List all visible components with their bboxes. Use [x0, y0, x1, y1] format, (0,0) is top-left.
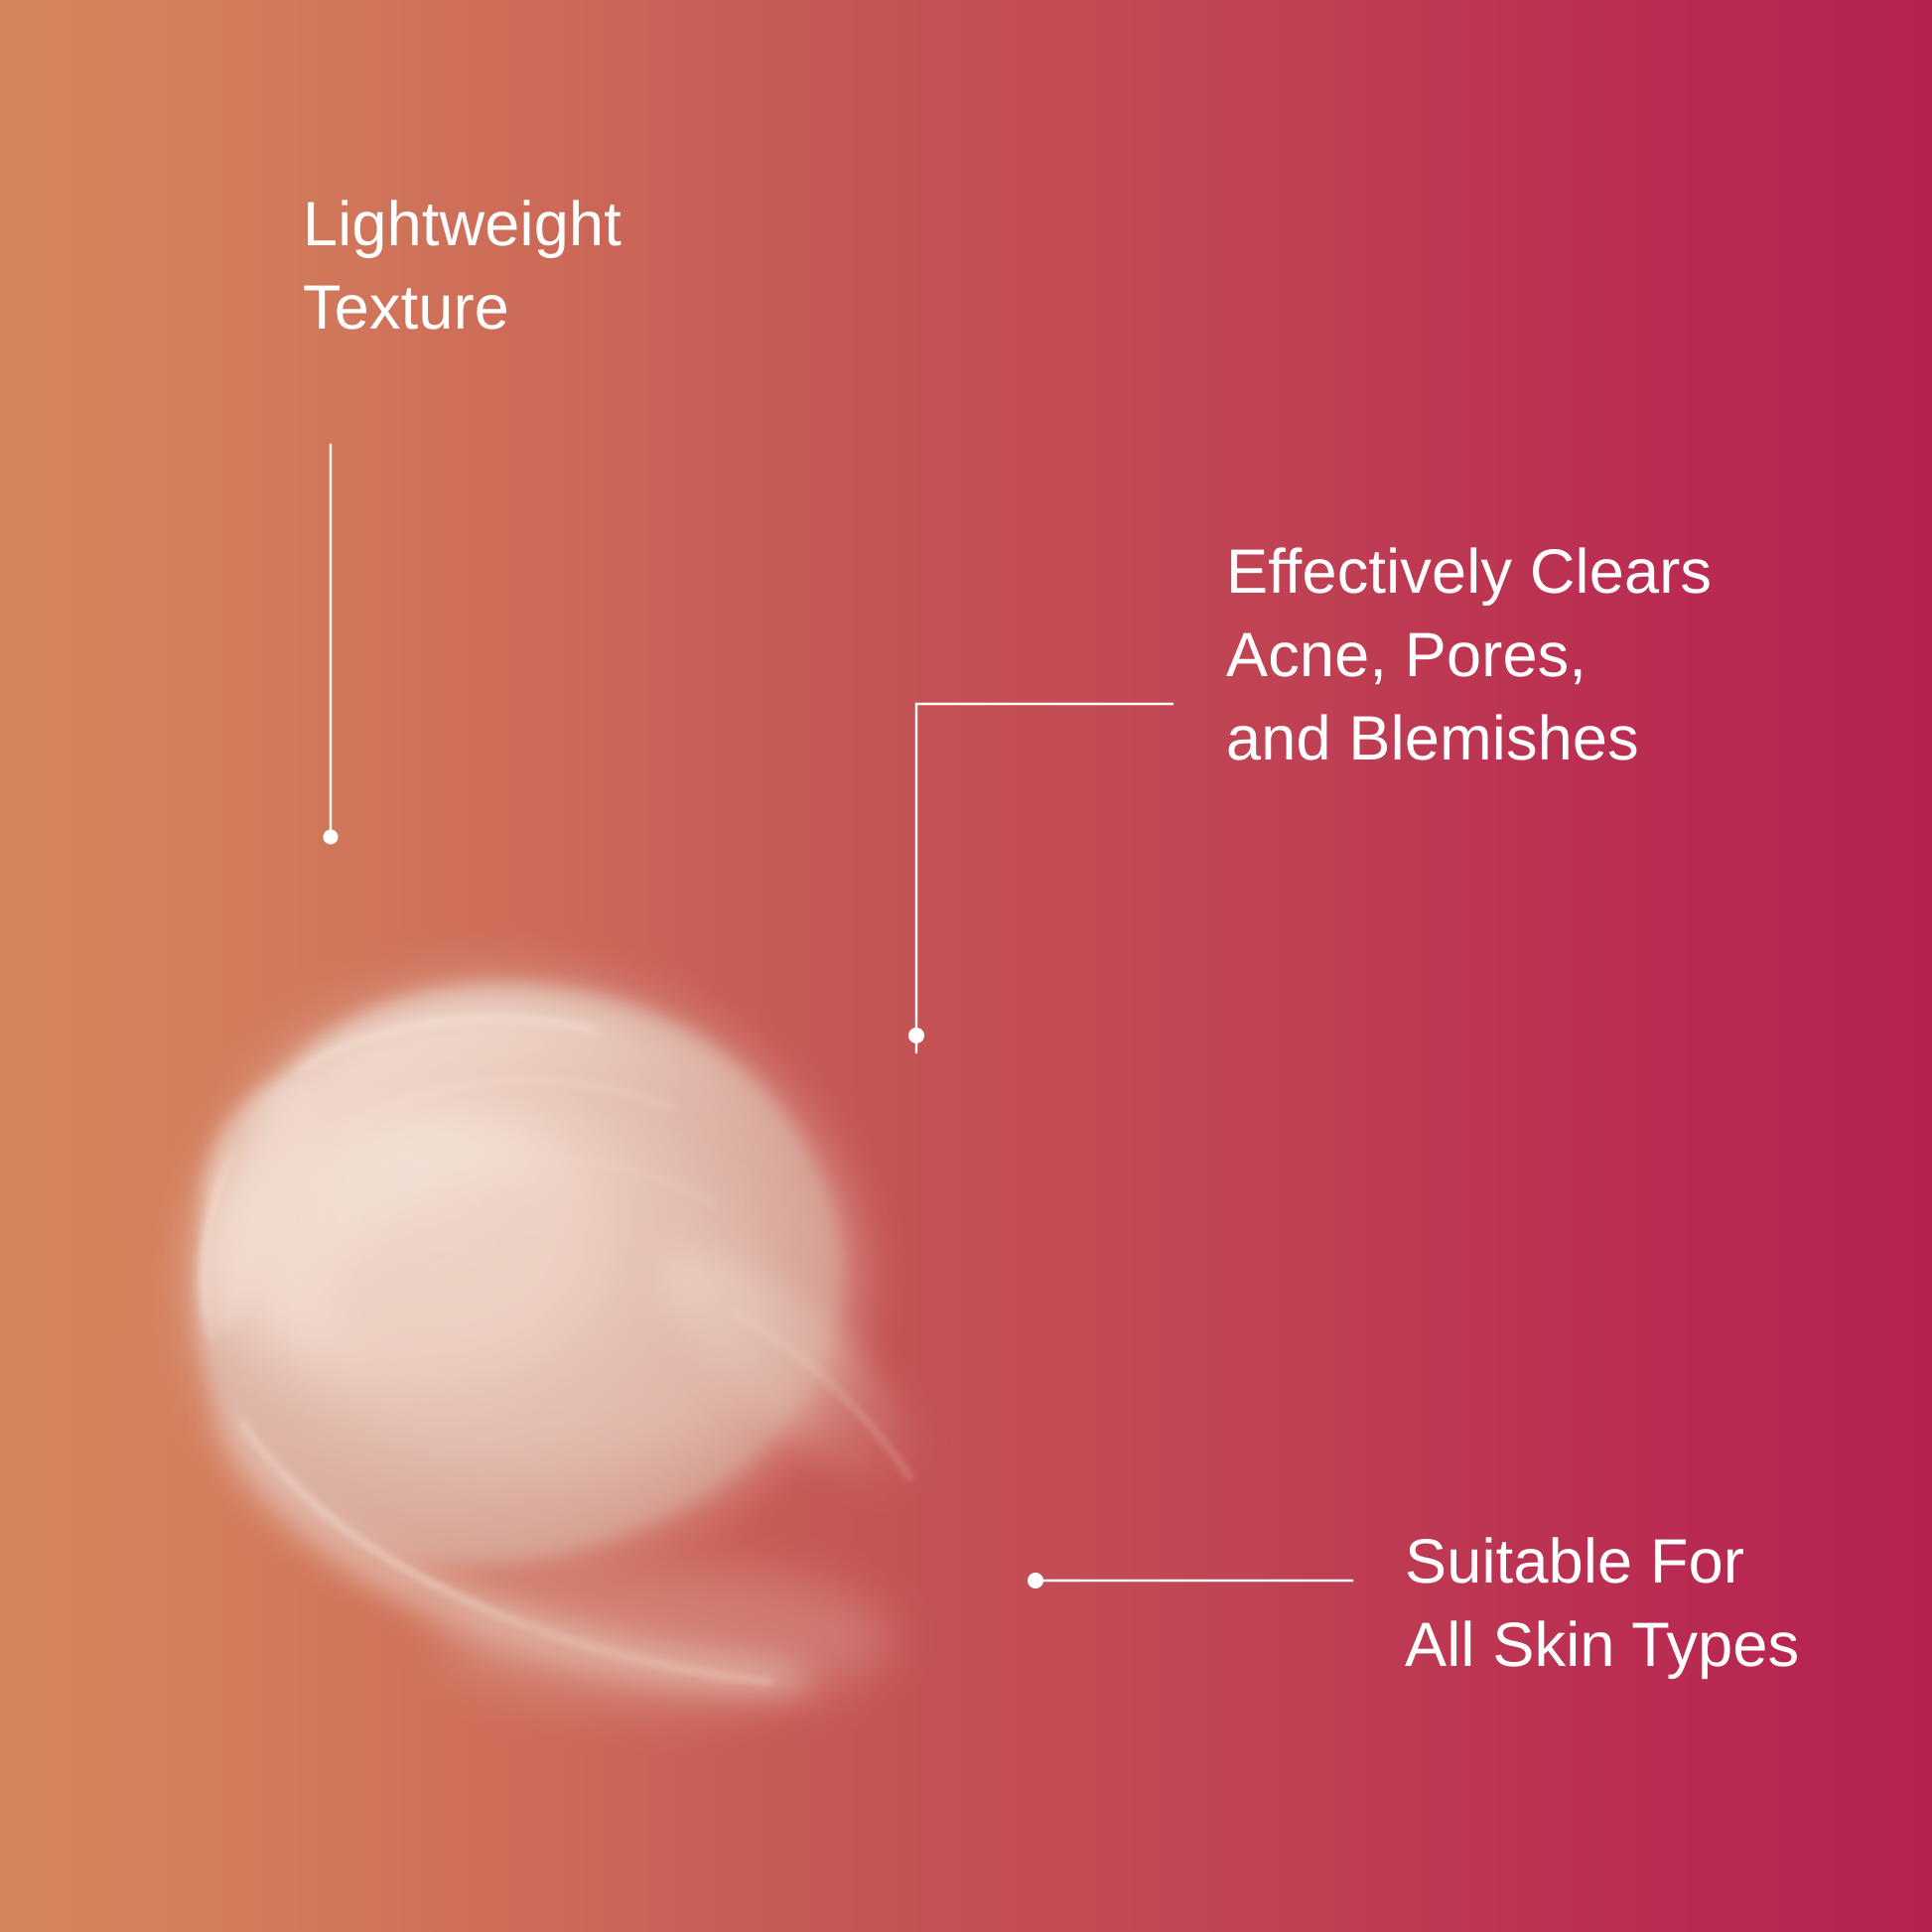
connector-effectively-clears	[894, 685, 1191, 1062]
annotation-label-effectively-clears: Effectively Clears Acne, Pores, and Blem…	[1226, 531, 1712, 780]
promo-graphic-canvas: Lightweight Texture Effectively Clears A…	[0, 0, 1932, 1932]
annotation-label-suitable-for-all-skin-types: Suitable For All Skin Types	[1405, 1521, 1799, 1688]
cream-swatch-image	[109, 923, 1033, 1698]
connector-suitable-for-all-skin-types	[1013, 1559, 1390, 1604]
connector-lightweight-texture	[298, 427, 377, 864]
annotation-label-lightweight-texture: Lightweight Texture	[303, 184, 621, 350]
